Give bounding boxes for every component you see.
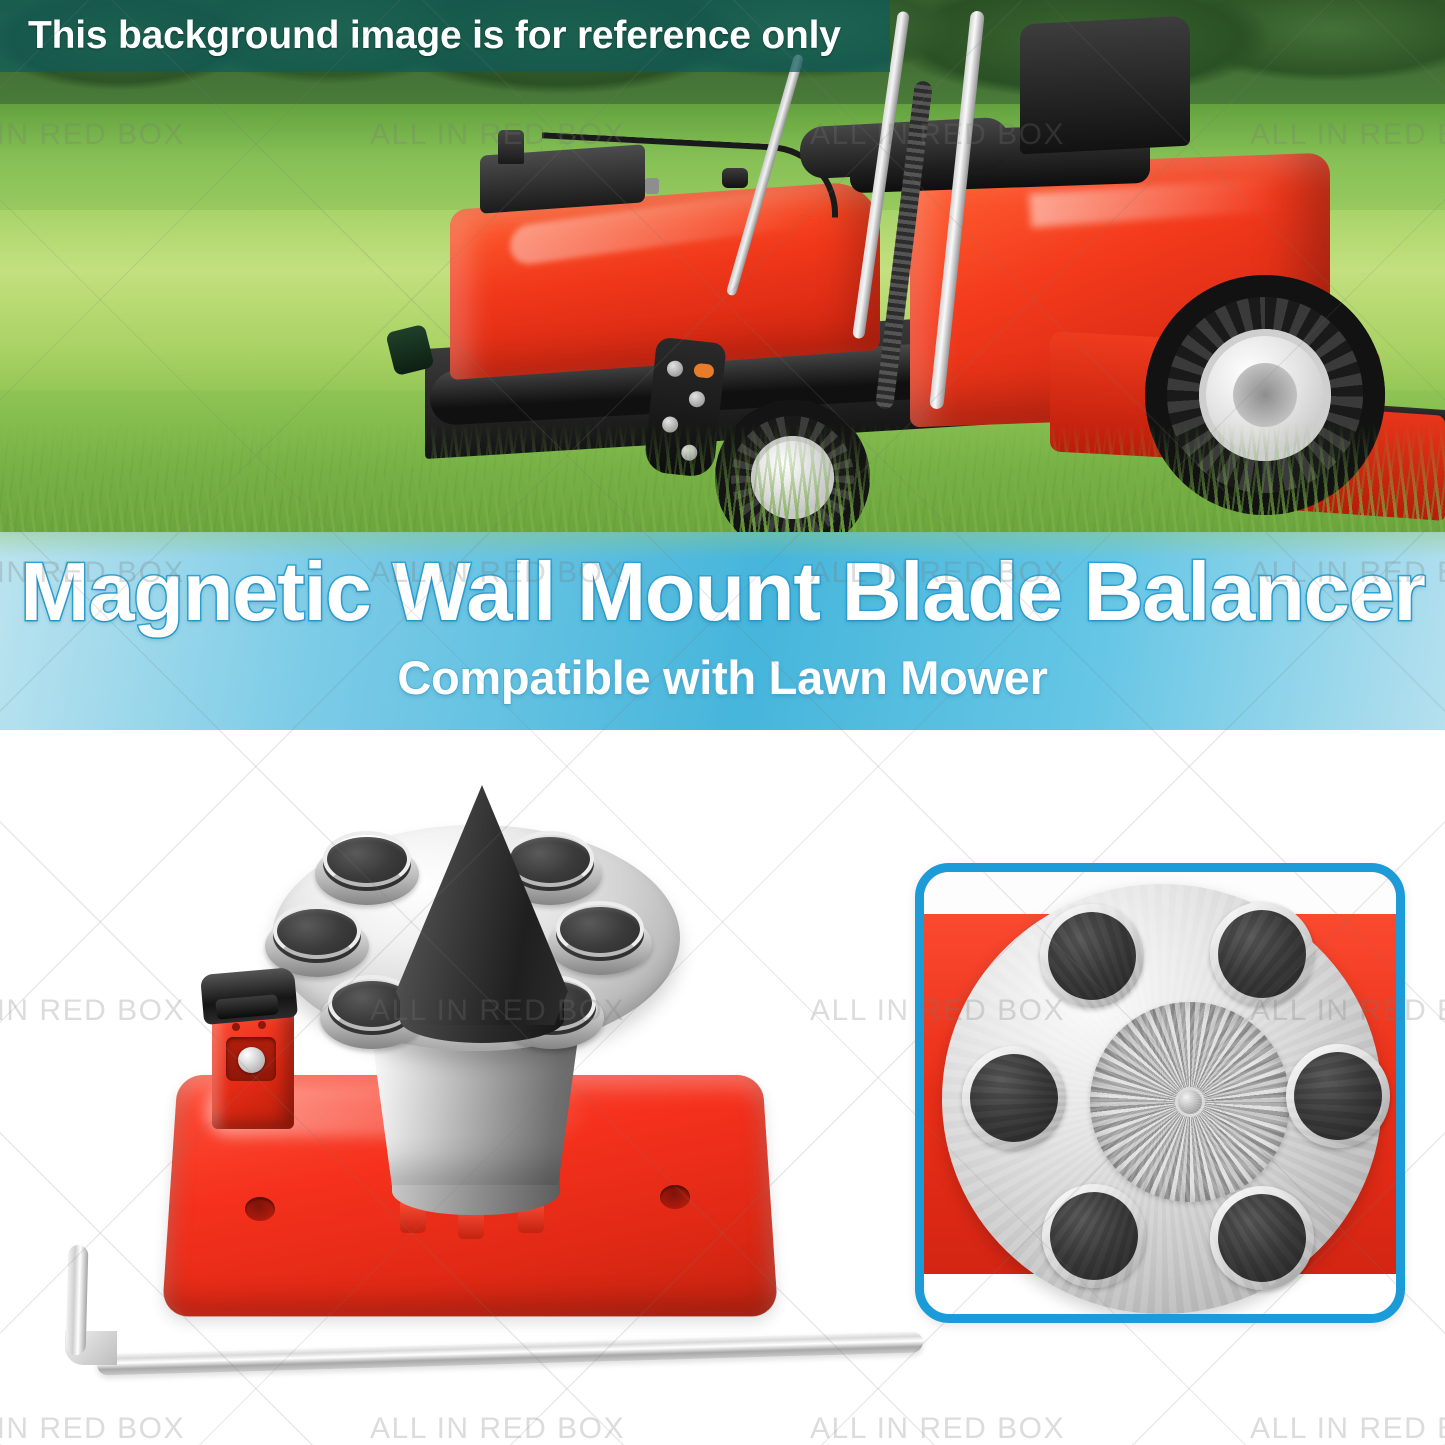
title-banner: Magnetic Wall Mount Blade Balancer Compa… — [0, 532, 1445, 730]
mower-seat-back — [1020, 16, 1190, 155]
inset-magnet — [1210, 902, 1314, 1006]
magnet-face — [556, 907, 644, 961]
hex-allen-key — [45, 1285, 925, 1405]
inset-magnet — [1042, 1184, 1146, 1288]
magnet-post — [265, 905, 369, 977]
inset-center-hub — [1090, 1002, 1290, 1202]
foreground-grass-blades — [0, 423, 1445, 533]
inset-magnet — [1286, 1044, 1390, 1148]
reference-note-band: This background image is for reference o… — [0, 0, 890, 72]
allen-key-long-arm — [97, 1331, 923, 1375]
inset-magnet — [962, 1046, 1066, 1150]
product-listing-image: This background image is for reference o… — [0, 0, 1445, 1445]
allen-key-short-arm — [66, 1245, 89, 1355]
magnet-face — [273, 909, 361, 963]
mower-engine-knob — [498, 130, 524, 164]
hero-photo — [0, 0, 1445, 533]
page-title: Magnetic Wall Mount Blade Balancer — [0, 544, 1445, 640]
bracket-bolt-icon — [688, 390, 706, 408]
bracket-marker — [693, 363, 714, 379]
inset-magnet — [1210, 1186, 1314, 1290]
inset-magnet-disc — [942, 884, 1382, 1314]
mower-lever — [385, 324, 434, 376]
clamp-hole — [232, 1023, 240, 1031]
magnet-face — [323, 837, 411, 891]
detail-inset-panel — [915, 863, 1405, 1323]
inset-magnet — [1040, 904, 1144, 1008]
blade-balancer-product — [160, 785, 800, 1305]
bracket-bolt-icon — [666, 360, 684, 378]
base-mounting-hole — [660, 1185, 690, 1209]
magnet-post — [315, 833, 419, 905]
reference-note-text: This background image is for reference o… — [0, 14, 841, 58]
clamp-hole — [258, 1021, 266, 1029]
page-subtitle: Compatible with Lawn Mower — [0, 650, 1445, 705]
clamp-screw — [238, 1047, 265, 1073]
product-area — [0, 730, 1445, 1445]
magnet-post — [548, 903, 652, 975]
base-mounting-hole — [245, 1197, 275, 1221]
red-clamp-bracket — [212, 1007, 294, 1129]
